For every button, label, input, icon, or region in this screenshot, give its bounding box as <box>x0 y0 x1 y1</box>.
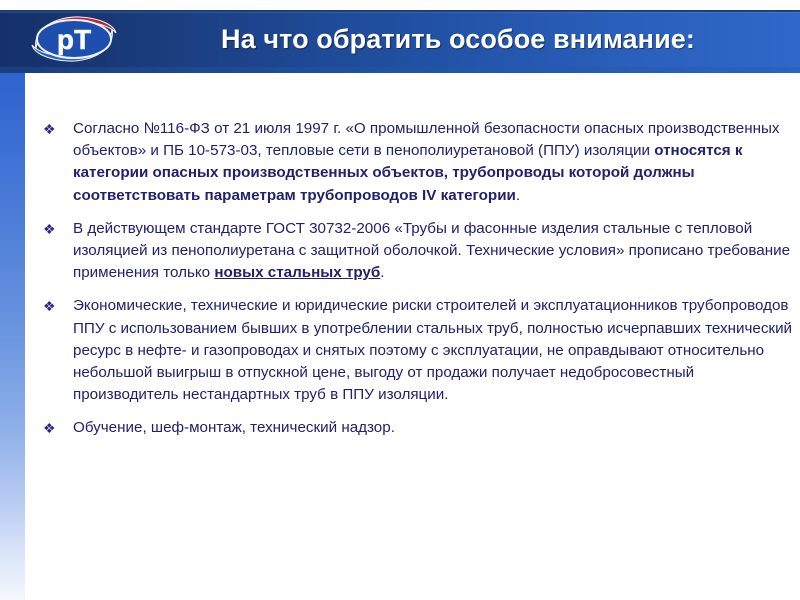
logo-letters: рТ <box>57 24 91 55</box>
bullet-text-segment: новых стальных труб <box>214 264 380 281</box>
bullet-diamond-icon: ❖ <box>43 119 59 137</box>
bullet-diamond-icon: ❖ <box>43 219 59 237</box>
bullet-text: Обучение, шеф-монтаж, технический надзор… <box>73 417 800 439</box>
presentation-slide: рТ На что обратить особое внимание: ❖Сог… <box>0 0 800 600</box>
bullet-list: ❖Согласно №116-ФЗ от 21 июля 1997 г. «О … <box>34 118 800 440</box>
bullet-text: Согласно №116-ФЗ от 21 июля 1997 г. «О п… <box>73 118 800 207</box>
bullet-text-segment: . <box>380 264 384 281</box>
bullet-text-segment: Обучение, шеф-монтаж, технический надзор… <box>73 419 395 436</box>
bullet-diamond-icon: ❖ <box>43 296 59 314</box>
bullet-item: ❖Обучение, шеф-монтаж, технический надзо… <box>34 417 800 439</box>
bullet-text: В действующем стандарте ГОСТ 30732-2006 … <box>73 218 800 285</box>
bullet-text-segment: Экономические, технические и юридические… <box>73 297 792 403</box>
left-strip-gap <box>25 73 34 600</box>
company-logo: рТ <box>28 13 120 65</box>
bullet-item: ❖Согласно №116-ФЗ от 21 июля 1997 г. «О … <box>34 118 800 207</box>
slide-title: На что обратить особое внимание: <box>128 16 788 62</box>
bullet-text-segment: В действующем стандарте ГОСТ 30732-2006 … <box>73 220 790 281</box>
bullet-item: ❖В действующем стандарте ГОСТ 30732-2006… <box>34 218 800 285</box>
slide-content: ❖Согласно №116-ФЗ от 21 июля 1997 г. «О … <box>34 73 800 600</box>
bullet-diamond-icon: ❖ <box>43 418 59 436</box>
bullet-item: ❖Экономические, технические и юридически… <box>34 295 800 406</box>
bullet-text: Экономические, технические и юридические… <box>73 295 800 406</box>
left-accent-strip <box>0 73 25 600</box>
bullet-text-segment: . <box>516 187 520 204</box>
